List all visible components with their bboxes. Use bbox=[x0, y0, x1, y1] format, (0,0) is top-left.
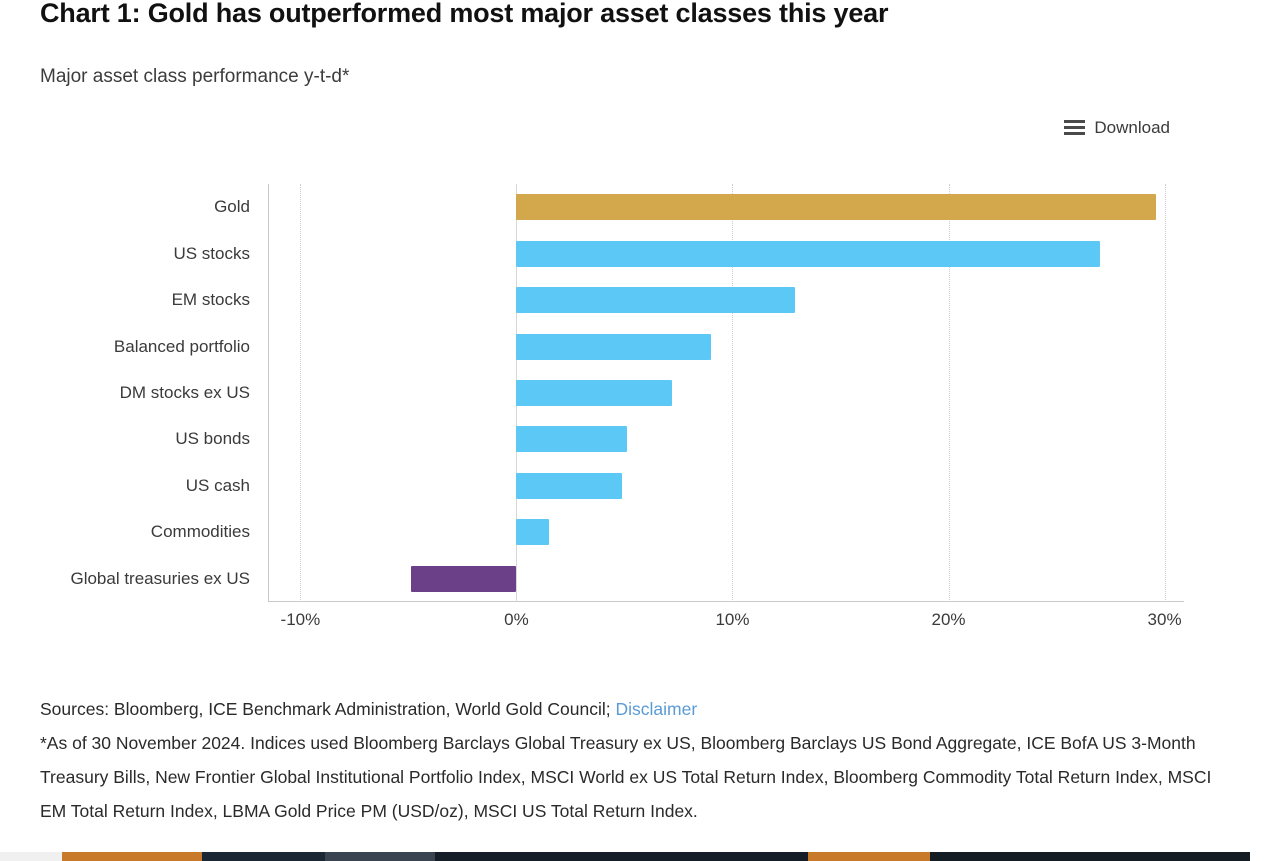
x-axis-tick-label: 30% bbox=[1148, 610, 1182, 630]
y-axis-category-label: US cash bbox=[186, 476, 250, 496]
bar[interactable] bbox=[516, 519, 548, 545]
x-axis-tick-label: 0% bbox=[504, 610, 529, 630]
hamburger-menu-icon bbox=[1064, 120, 1085, 136]
bar[interactable] bbox=[516, 287, 795, 313]
bar[interactable] bbox=[516, 241, 1099, 267]
download-button-label: Download bbox=[1094, 118, 1170, 138]
y-axis-category-label: Gold bbox=[214, 197, 250, 217]
y-axis-category-label: US bonds bbox=[175, 429, 250, 449]
bar[interactable] bbox=[516, 194, 1155, 220]
bottom-color-strip bbox=[0, 848, 1280, 861]
bar[interactable] bbox=[516, 380, 672, 406]
y-axis-category-label: Commodities bbox=[151, 522, 250, 542]
strip-segment bbox=[930, 852, 1250, 861]
y-axis-category-label: US stocks bbox=[173, 244, 250, 264]
strip-segment bbox=[62, 852, 202, 861]
strip-segment bbox=[1250, 852, 1280, 861]
sources-text: Sources: Bloomberg, ICE Benchmark Admini… bbox=[40, 699, 615, 719]
x-axis-tick-label: 10% bbox=[715, 610, 749, 630]
gridline bbox=[300, 184, 302, 602]
sources-line: Sources: Bloomberg, ICE Benchmark Admini… bbox=[40, 692, 1240, 726]
x-axis-tick-label: -10% bbox=[281, 610, 321, 630]
bar[interactable] bbox=[516, 334, 710, 360]
x-axis-tick-label: 20% bbox=[932, 610, 966, 630]
footnote-text: *As of 30 November 2024. Indices used Bl… bbox=[40, 726, 1240, 828]
download-button[interactable]: Download bbox=[1064, 118, 1170, 138]
bar[interactable] bbox=[516, 473, 622, 499]
bar[interactable] bbox=[516, 426, 626, 452]
gridline bbox=[1165, 184, 1167, 602]
strip-segment bbox=[435, 852, 808, 861]
chart-plot: -10%0%10%20%30% GoldUS stocksEM stocksBa… bbox=[0, 180, 1280, 650]
footer: Sources: Bloomberg, ICE Benchmark Admini… bbox=[40, 692, 1240, 828]
chart-subtitle: Major asset class performance y-t-d* bbox=[40, 66, 349, 88]
y-axis-category-label: DM stocks ex US bbox=[120, 383, 250, 403]
y-axis-category-label: EM stocks bbox=[172, 290, 250, 310]
page-title: Chart 1: Gold has outperformed most majo… bbox=[40, 0, 888, 29]
y-axis-category-label: Balanced portfolio bbox=[114, 337, 250, 357]
bar[interactable] bbox=[411, 566, 517, 592]
disclaimer-link[interactable]: Disclaimer bbox=[615, 699, 697, 719]
y-axis-category-label: Global treasuries ex US bbox=[70, 569, 250, 589]
strip-segment bbox=[325, 852, 435, 861]
strip-segment bbox=[202, 852, 325, 861]
strip-segment bbox=[0, 852, 62, 861]
strip-segment bbox=[808, 852, 930, 861]
